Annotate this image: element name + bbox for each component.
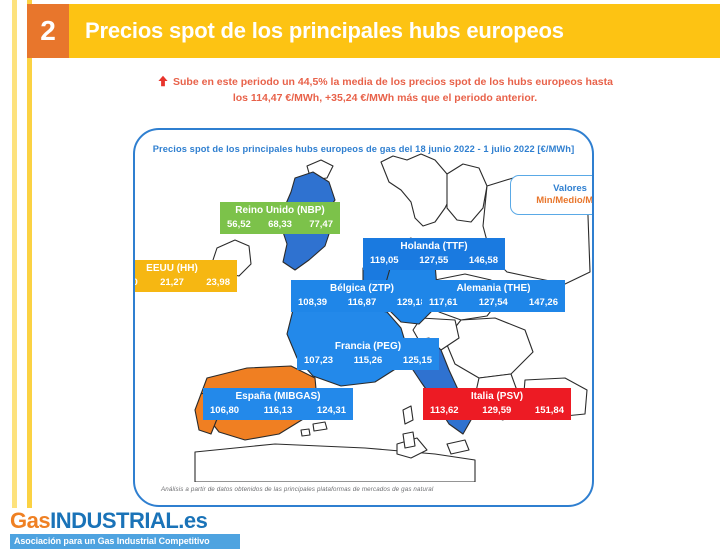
hub-max: 147,26 (529, 297, 558, 309)
hub-label-belgica[interactable]: Bélgica (ZTP) 108,39 116,87 129,18 (291, 280, 433, 312)
hub-name: Italia (PSV) (430, 391, 564, 404)
hub-medio: 129,59 (482, 405, 511, 417)
map-card: Precios spot de los principales hubs eur… (133, 128, 594, 507)
hub-label-francia[interactable]: Francia (PEG) 107,23 115,26 125,15 (297, 338, 439, 370)
hub-name: Alemania (THE) (429, 283, 558, 296)
brand-logo[interactable]: GasINDUSTRIAL.es Asociación para un Gas … (10, 510, 240, 549)
hub-name: España (MIBGAS) (210, 391, 346, 404)
hub-max: 151,84 (535, 405, 564, 417)
hub-min: 108,39 (298, 297, 327, 309)
hub-min: 119,05 (370, 255, 399, 267)
logo-tagline: Asociación para un Gas Industrial Compet… (10, 534, 240, 549)
hub-medio: 116,13 (264, 405, 293, 417)
legend-box: Valores Min/Medio/Máx (510, 175, 594, 215)
hub-name: Reino Unido (NBP) (227, 205, 333, 218)
hub-label-italia[interactable]: Italia (PSV) 113,62 129,59 151,84 (423, 388, 571, 420)
page-title: Precios spot de los principales hubs eur… (69, 4, 720, 58)
hub-label-reino-unido[interactable]: Reino Unido (NBP) 56,52 68,33 77,47 (220, 202, 340, 234)
hub-max: 23,98 (206, 277, 230, 289)
logo-wordmark: GasINDUSTRIAL.es (10, 510, 240, 532)
hub-max: 124,31 (317, 405, 346, 417)
summary-line-1: Sube en este periodo un 44,5% la media d… (173, 76, 613, 88)
summary-line-2: los 114,47 €/MWh, +35,24 €/MWh más que e… (150, 90, 620, 106)
hub-medio: 115,26 (354, 355, 383, 367)
hub-medio: 68,33 (268, 219, 292, 231)
up-arrow-icon (157, 75, 169, 87)
hub-medio: 116,87 (348, 297, 377, 309)
hub-label-eeuu[interactable]: EEUU (HH) 18,80 21,27 23,98 (133, 260, 237, 292)
hub-name: Francia (PEG) (304, 341, 432, 354)
logo-part-gas: Gas (10, 508, 50, 533)
hub-min: 18,80 (133, 277, 138, 289)
hub-medio: 21,27 (160, 277, 184, 289)
hub-label-alemania[interactable]: Alemania (THE) 117,61 127,54 147,26 (422, 280, 565, 312)
hub-max: 125,15 (403, 355, 432, 367)
hub-name: EEUU (HH) (133, 263, 230, 276)
hub-label-espana[interactable]: España (MIBGAS) 106,80 116,13 124,31 (203, 388, 353, 420)
hub-name: Bélgica (ZTP) (298, 283, 426, 296)
hub-min: 107,23 (304, 355, 333, 367)
legend-title: Valores (553, 183, 587, 195)
page-header: 2 Precios spot de los principales hubs e… (27, 4, 720, 58)
hub-label-holanda[interactable]: Holanda (TTF) 119,05 127,55 146,58 (363, 238, 505, 270)
legend-subtitle: Min/Medio/Máx (536, 195, 594, 207)
summary-text: Sube en este periodo un 44,5% la media d… (150, 74, 620, 107)
card-footnote: Análisis a partir de datos obtenidos de … (161, 486, 433, 493)
hub-min: 113,62 (430, 405, 459, 417)
section-number: 2 (27, 4, 69, 58)
left-stripe-outer (12, 0, 17, 508)
hub-min: 56,52 (227, 219, 251, 231)
hub-medio: 127,54 (479, 297, 508, 309)
hub-max: 77,47 (309, 219, 333, 231)
hub-name: Holanda (TTF) (370, 241, 498, 254)
left-stripe-inner (27, 0, 32, 508)
hub-min: 106,80 (210, 405, 239, 417)
logo-part-industrial: INDUSTRIAL.es (50, 508, 207, 533)
hub-medio: 127,55 (419, 255, 448, 267)
hub-max: 146,58 (469, 255, 498, 267)
hub-min: 117,61 (429, 297, 458, 309)
